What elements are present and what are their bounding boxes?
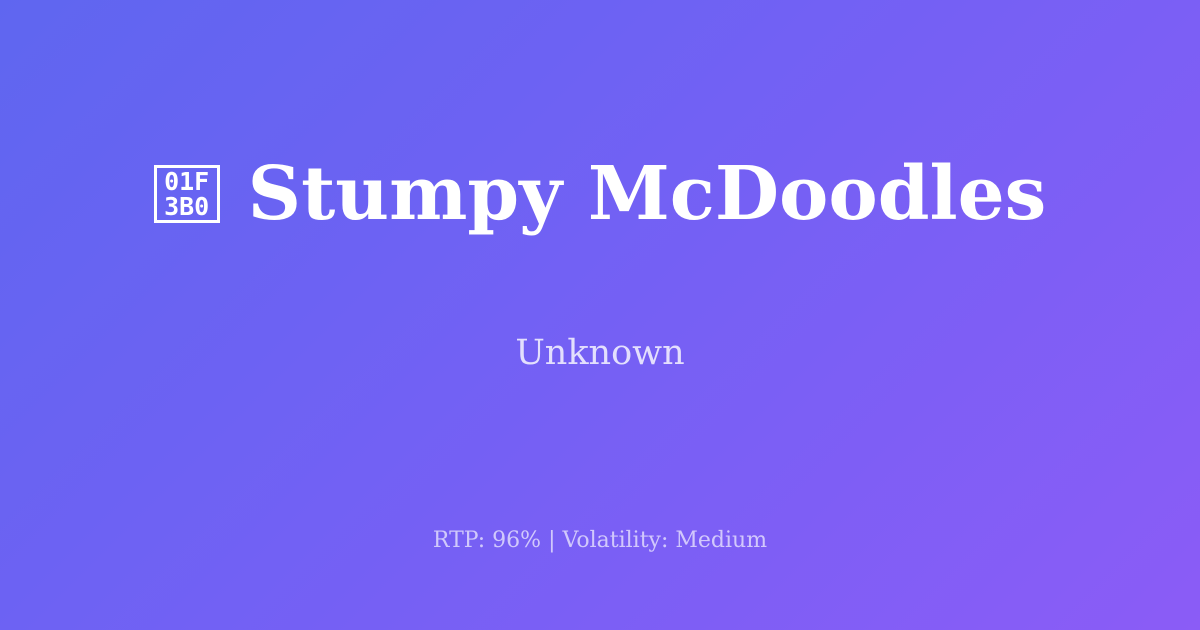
tofu-codepoint-top: 01F xyxy=(164,169,209,194)
title-row: 01F 3B0 Stumpy McDoodles xyxy=(0,107,1200,280)
page-title: Stumpy McDoodles xyxy=(248,157,1047,231)
game-preview-card: 01F 3B0 Stumpy McDoodles Unknown RTP: 96… xyxy=(0,0,1200,630)
game-meta-line: RTP: 96% | Volatility: Medium xyxy=(0,530,1200,552)
slot-machine-icon: 01F 3B0 xyxy=(154,165,220,223)
tofu-codepoint-bottom: 3B0 xyxy=(164,194,209,219)
hero-block: 01F 3B0 Stumpy McDoodles Unknown xyxy=(0,0,1200,478)
provider-subtitle: Unknown xyxy=(515,336,684,371)
